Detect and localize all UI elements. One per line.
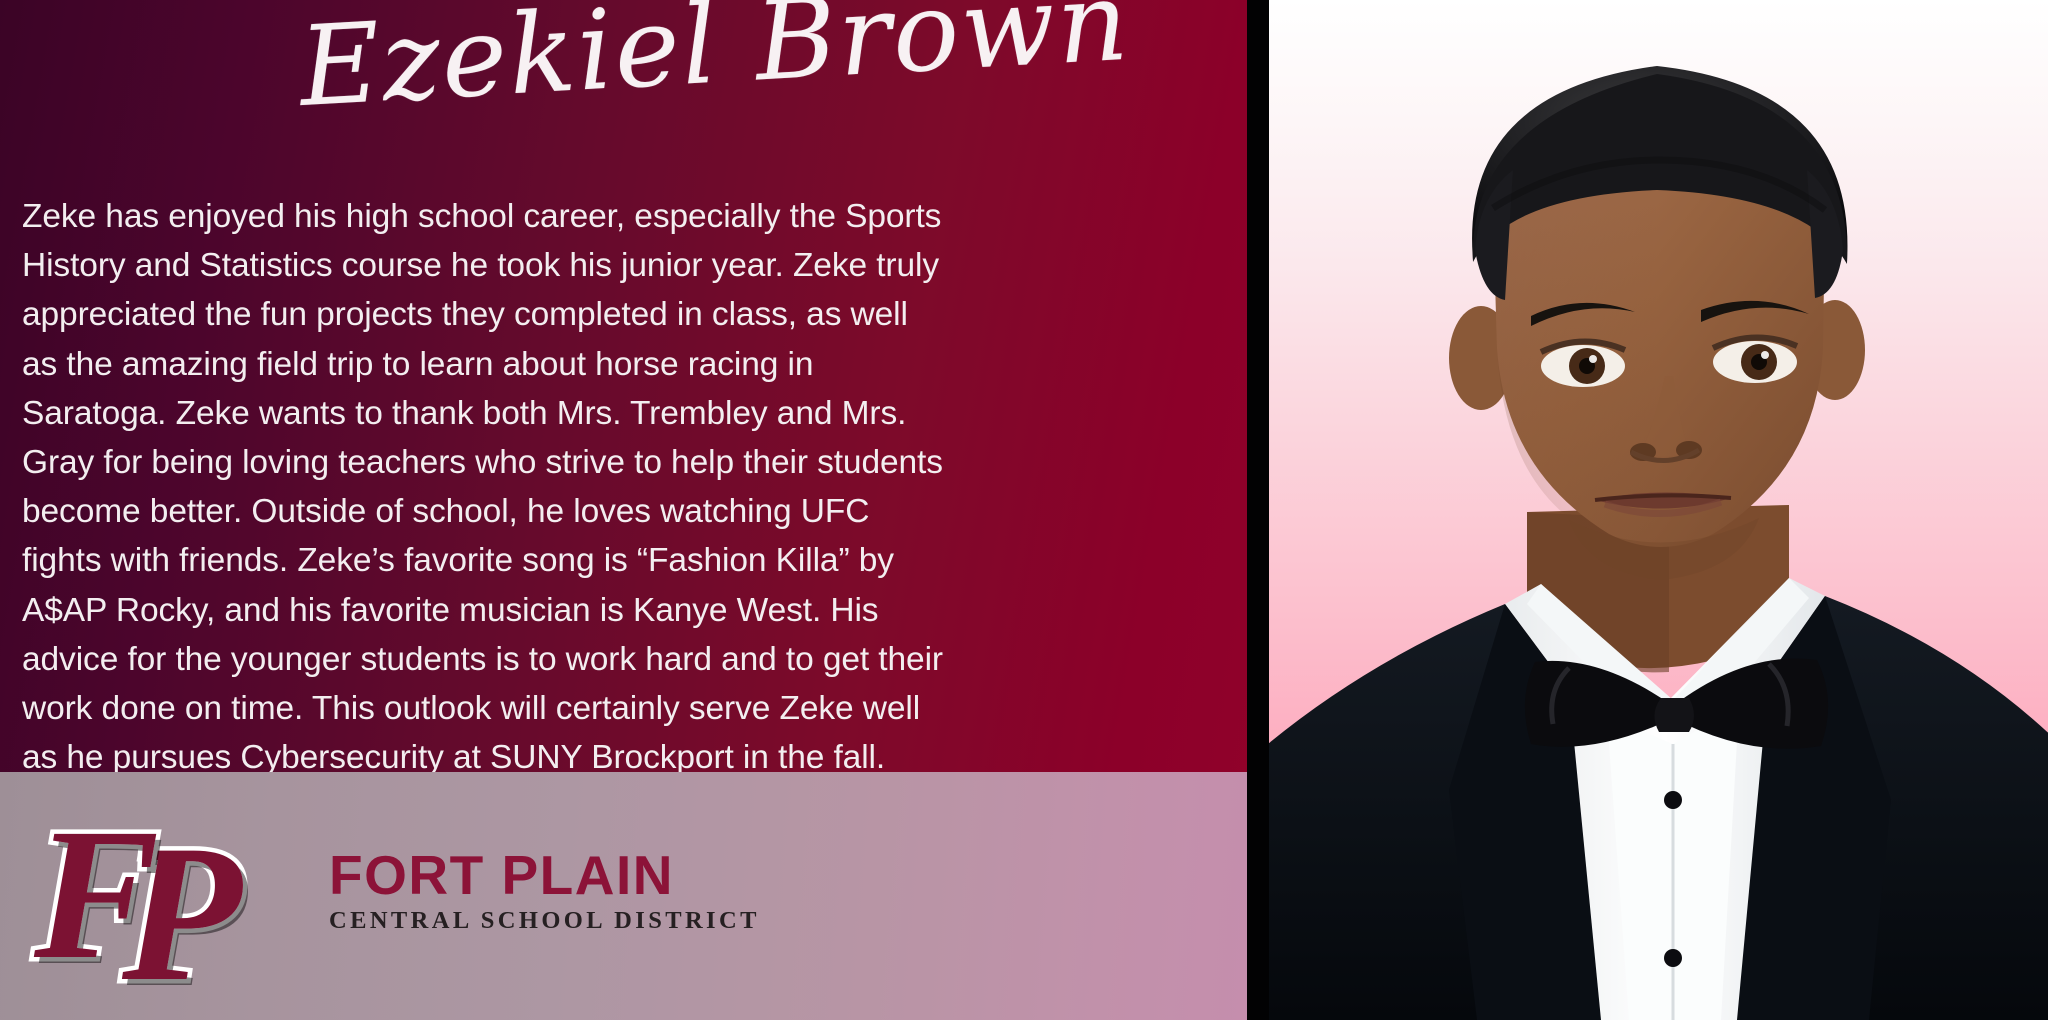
student-name-script: Ezekiel Brown xyxy=(296,0,1004,152)
district-footer-bar: P F FORT PLAIN CENTRAL SCHOOL DISTRICT xyxy=(0,772,1247,1020)
portrait-illustration xyxy=(1269,0,2048,1020)
fort-plain-fp-monogram-icon: P F xyxy=(34,794,289,984)
student-portrait-photo xyxy=(1269,0,2048,1020)
logo-letter-f: F xyxy=(34,800,159,988)
bio-panel: Ezekiel Brown Zeke has enjoyed his high … xyxy=(0,0,1247,1020)
footer-content: P F FORT PLAIN CENTRAL SCHOOL DISTRICT xyxy=(34,784,760,994)
student-bio-text: Zeke has enjoyed his high school career,… xyxy=(22,192,952,782)
shirt-stud xyxy=(1664,791,1682,809)
senior-spotlight-graphic: Ezekiel Brown Zeke has enjoyed his high … xyxy=(0,0,2048,1020)
district-subtitle: CENTRAL SCHOOL DISTRICT xyxy=(329,907,760,935)
district-wordmark: FORT PLAIN CENTRAL SCHOOL DISTRICT xyxy=(329,843,760,935)
panel-photo-divider xyxy=(1247,0,1269,1020)
district-name: FORT PLAIN xyxy=(329,847,760,903)
shirt-stud xyxy=(1664,949,1682,967)
bio-panel-body: Ezekiel Brown Zeke has enjoyed his high … xyxy=(0,0,1247,772)
